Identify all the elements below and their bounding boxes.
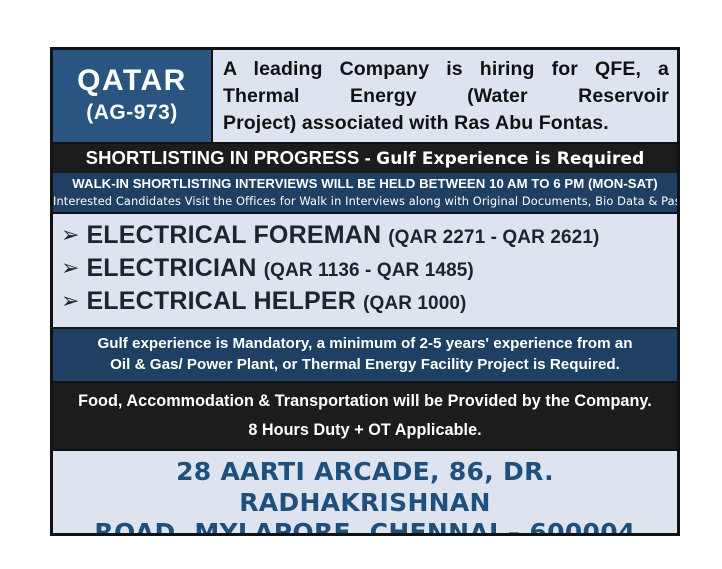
country-badge: QATAR (AG-973) (53, 50, 213, 142)
experience-line-2: Oil & Gas/ Power Plant, or Thermal Energ… (63, 354, 667, 376)
walkin-banner: WALK-IN SHORTLISTING INTERVIEWS WILL BE … (53, 173, 677, 212)
job-list-item: ➢ ELECTRICAL FOREMAN (QAR 2271 - QAR 262… (61, 221, 677, 250)
address-section: 28 AARTI ARCADE, 86, DR. RADHAKRISHNAN R… (53, 449, 677, 536)
job-title: ELECTRICAL FOREMAN (86, 221, 381, 250)
shortlisting-highlight: Gulf Experience is Required (376, 149, 644, 169)
experience-line-1: Gulf experience is Mandatory, a minimum … (63, 333, 667, 355)
arrow-bullet-icon: ➢ (61, 224, 79, 246)
arrow-bullet-icon: ➢ (61, 290, 79, 312)
experience-requirement: Gulf experience is Mandatory, a minimum … (53, 329, 677, 383)
poster-header: QATAR (AG-973) A leading Company is hiri… (53, 50, 677, 144)
benefits-line-1: Food, Accommodation & Transportation wil… (63, 389, 667, 413)
job-title: ELECTRICIAN (86, 254, 256, 283)
shortlisting-status: SHORTLISTING IN PROGRESS - (86, 147, 377, 168)
benefits-line-2: 8 Hours Duty + OT Applicable. (63, 418, 667, 442)
job-salary: (QAR 1136 - QAR 1485) (264, 260, 474, 282)
job-list-item: ➢ ELECTRICAL HELPER (QAR 1000) (61, 287, 677, 316)
job-list-item: ➢ ELECTRICIAN (QAR 1136 - QAR 1485) (61, 254, 677, 283)
header-description-line-1: A leading Company is hiring for QFE, a (223, 56, 669, 83)
job-salary: (QAR 2271 - QAR 2621) (388, 227, 599, 249)
address-line-2: ROAD, MYLAPORE, CHENNAI – 600004 (59, 518, 671, 536)
arrow-bullet-icon: ➢ (61, 257, 79, 279)
walkin-note: Interested Candidates Visit the Offices … (53, 193, 677, 212)
header-description-line-2: Thermal Energy (Water Reservoir (223, 83, 669, 110)
shortlisting-banner: SHORTLISTING IN PROGRESS - Gulf Experien… (53, 144, 677, 173)
country-name: QATAR (77, 65, 187, 97)
job-advertisement-poster: QATAR (AG-973) A leading Company is hiri… (50, 47, 680, 536)
job-list: ➢ ELECTRICAL FOREMAN (QAR 2271 - QAR 262… (53, 212, 677, 329)
job-salary: (QAR 1000) (363, 293, 466, 315)
country-code: (AG-973) (86, 101, 178, 125)
header-description: A leading Company is hiring for QFE, a T… (213, 50, 677, 142)
benefits-section: Food, Accommodation & Transportation wil… (53, 383, 677, 450)
header-description-line-3: Project) associated with Ras Abu Fontas. (223, 110, 669, 137)
walkin-headline: WALK-IN SHORTLISTING INTERVIEWS WILL BE … (53, 173, 677, 193)
address-line-1: 28 AARTI ARCADE, 86, DR. RADHAKRISHNAN (59, 457, 671, 518)
job-title: ELECTRICAL HELPER (86, 287, 356, 316)
